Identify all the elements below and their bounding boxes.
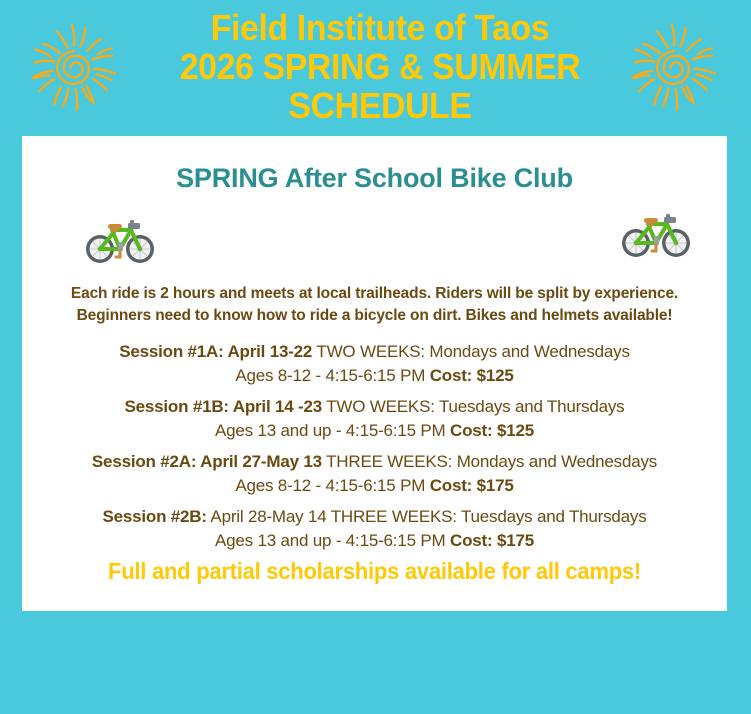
session-detail: THREE WEEKS: Mondays and Wednesdays bbox=[322, 452, 657, 471]
intro-paragraph: Each ride is 2 hours and meets at local … bbox=[52, 283, 697, 326]
poster-canvas: Field Institute of Taos 2026 SPRING & SU… bbox=[0, 0, 751, 714]
session-line-1: Session #1A: April 13-22 TWO WEEKS: Mond… bbox=[42, 340, 707, 364]
session-label: Session #2B: bbox=[102, 507, 206, 526]
session-label: Session #1A: April 13-22 bbox=[119, 342, 312, 361]
session-detail: April 28-May 14 THREE WEEKS: Tuesdays an… bbox=[207, 507, 647, 526]
intro-line-2: Beginners need to know how to ride a bic… bbox=[77, 307, 673, 324]
session-item: Session #2B: April 28-May 14 THREE WEEKS… bbox=[42, 505, 707, 552]
schedule-card: SPRING After School Bike Club bbox=[22, 136, 727, 611]
session-ages-time: Ages 8-12 - 4:15-6:15 PM bbox=[235, 476, 429, 495]
session-label: Session #2A: April 27-May 13 bbox=[92, 452, 322, 471]
sun-icon bbox=[18, 12, 130, 124]
intro-line-1: Each ride is 2 hours and meets at local … bbox=[71, 285, 678, 302]
club-heading: SPRING After School Bike Club bbox=[22, 163, 727, 194]
title-line-2: 2026 SPRING & SUMMER bbox=[150, 47, 611, 86]
title-line-3: SCHEDULE bbox=[150, 86, 611, 125]
session-item: Session #2A: April 27-May 13 THREE WEEKS… bbox=[42, 450, 707, 497]
session-cost: Cost: $175 bbox=[430, 476, 514, 495]
session-line-2: Ages 8-12 - 4:15-6:15 PM Cost: $125 bbox=[42, 364, 707, 388]
session-cost: Cost: $125 bbox=[450, 421, 534, 440]
session-line-2: Ages 8-12 - 4:15-6:15 PM Cost: $175 bbox=[42, 474, 707, 498]
session-detail: TWO WEEKS: Tuesdays and Thursdays bbox=[322, 397, 624, 416]
session-ages-time: Ages 13 and up - 4:15-6:15 PM bbox=[215, 421, 450, 440]
session-item: Session #1A: April 13-22 TWO WEEKS: Mond… bbox=[42, 340, 707, 387]
sun-icon bbox=[618, 12, 730, 124]
session-detail: TWO WEEKS: Mondays and Wednesdays bbox=[312, 342, 630, 361]
session-line-2: Ages 13 and up - 4:15-6:15 PM Cost: $175 bbox=[42, 529, 707, 553]
session-ages-time: Ages 8-12 - 4:15-6:15 PM bbox=[235, 366, 429, 385]
session-ages-time: Ages 13 and up - 4:15-6:15 PM bbox=[215, 531, 450, 550]
bicycle-icon bbox=[620, 206, 692, 262]
scholarship-note: Full and partial scholarships available … bbox=[36, 558, 713, 585]
bicycle-icon bbox=[84, 212, 156, 268]
session-label: Session #1B: April 14 -23 bbox=[125, 397, 323, 416]
page-title: Field Institute of Taos 2026 SPRING & SU… bbox=[150, 8, 611, 125]
session-line-2: Ages 13 and up - 4:15-6:15 PM Cost: $125 bbox=[42, 419, 707, 443]
title-line-1: Field Institute of Taos bbox=[150, 8, 611, 47]
session-line-1: Session #1B: April 14 -23 TWO WEEKS: Tue… bbox=[42, 395, 707, 419]
session-line-1: Session #2A: April 27-May 13 THREE WEEKS… bbox=[42, 450, 707, 474]
session-cost: Cost: $175 bbox=[450, 531, 534, 550]
session-item: Session #1B: April 14 -23 TWO WEEKS: Tue… bbox=[42, 395, 707, 442]
session-line-1: Session #2B: April 28-May 14 THREE WEEKS… bbox=[42, 505, 707, 529]
session-cost: Cost: $125 bbox=[430, 366, 514, 385]
poster-header: Field Institute of Taos 2026 SPRING & SU… bbox=[0, 0, 751, 136]
session-list: Session #1A: April 13-22 TWO WEEKS: Mond… bbox=[42, 340, 707, 560]
